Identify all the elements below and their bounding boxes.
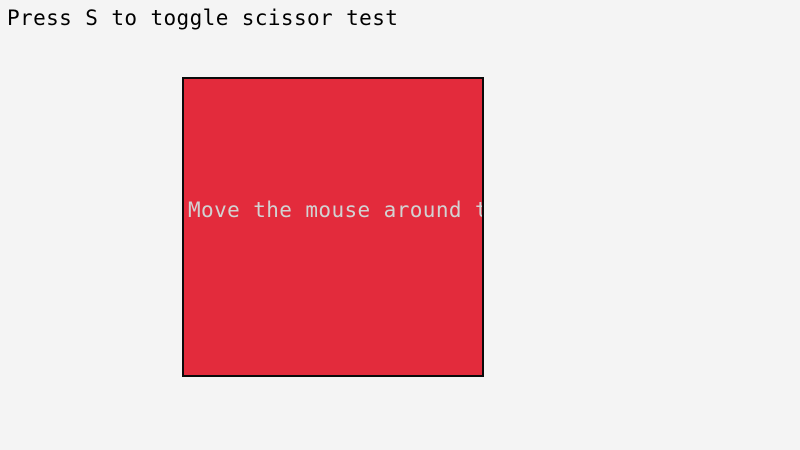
scissor-test-canvas: Press S to toggle scissor test Move the … — [0, 0, 800, 450]
scissor-clipped-label: Move the mouse around to r — [188, 197, 484, 223]
scissor-rectangle[interactable]: Move the mouse around to r — [182, 77, 484, 377]
hint-text: Press S to toggle scissor test — [7, 5, 398, 31]
